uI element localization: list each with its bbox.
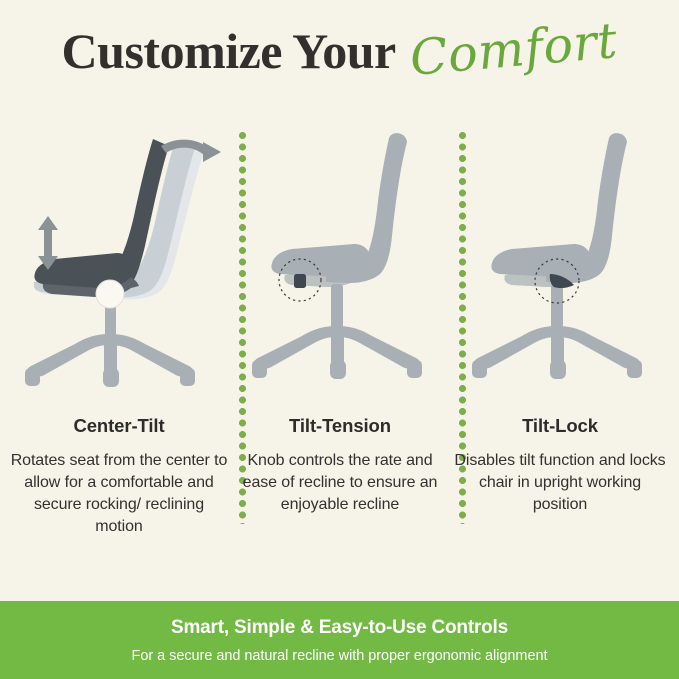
chair-seat [271, 244, 370, 277]
infographic-page: Customize Your Comfort [0, 0, 679, 679]
footer-subtitle: For a secure and natural recline with pr… [132, 648, 548, 664]
pivot-point-circle [96, 280, 124, 308]
page-title-script: Comfort [407, 12, 619, 87]
feature-column-tilt-lock: Tilt-Lock Disables tilt function and loc… [450, 128, 670, 548]
chair-backrest [363, 133, 407, 274]
chair-tilt-lock-illustration [450, 128, 670, 396]
chair-backrest [583, 133, 627, 274]
tension-knob [294, 274, 306, 288]
feature-body-tilt-lock: Disables tilt function and locks chair i… [450, 450, 670, 515]
chair-gas-cylinder [331, 284, 343, 332]
chair-base [25, 334, 195, 387]
feature-column-tilt-tension: Tilt-Tension Knob controls the rate and … [230, 128, 450, 548]
feature-body-center-tilt: Rotates seat from the center to allow fo… [9, 450, 229, 537]
chair-tilt-tension-illustration [230, 128, 450, 396]
page-title: Customize Your Comfort [62, 22, 618, 80]
footer-title: Smart, Simple & Easy-to-Use Controls [171, 617, 508, 639]
chair-gas-cylinder [551, 284, 563, 332]
feature-title-center-tilt: Center-Tilt [9, 416, 229, 436]
caption-tilt-lock: Tilt-Lock Disables tilt function and loc… [450, 416, 670, 516]
feature-title-tilt-lock: Tilt-Lock [450, 416, 670, 436]
chair-center-tilt-illustration [9, 128, 229, 396]
feature-title-tilt-tension: Tilt-Tension [230, 416, 450, 436]
caption-tilt-tension: Tilt-Tension Knob controls the rate and … [230, 416, 450, 516]
page-title-main: Customize Your [62, 22, 396, 80]
feature-body-tilt-tension: Knob controls the rate and ease of recli… [230, 450, 450, 515]
caption-center-tilt: Center-Tilt Rotates seat from the center… [9, 416, 229, 537]
footer-banner: Smart, Simple & Easy-to-Use Controls For… [0, 601, 679, 679]
header: Customize Your Comfort [0, 0, 679, 110]
feature-column-center-tilt: Center-Tilt Rotates seat from the center… [9, 128, 229, 548]
chair-seat [491, 244, 590, 277]
